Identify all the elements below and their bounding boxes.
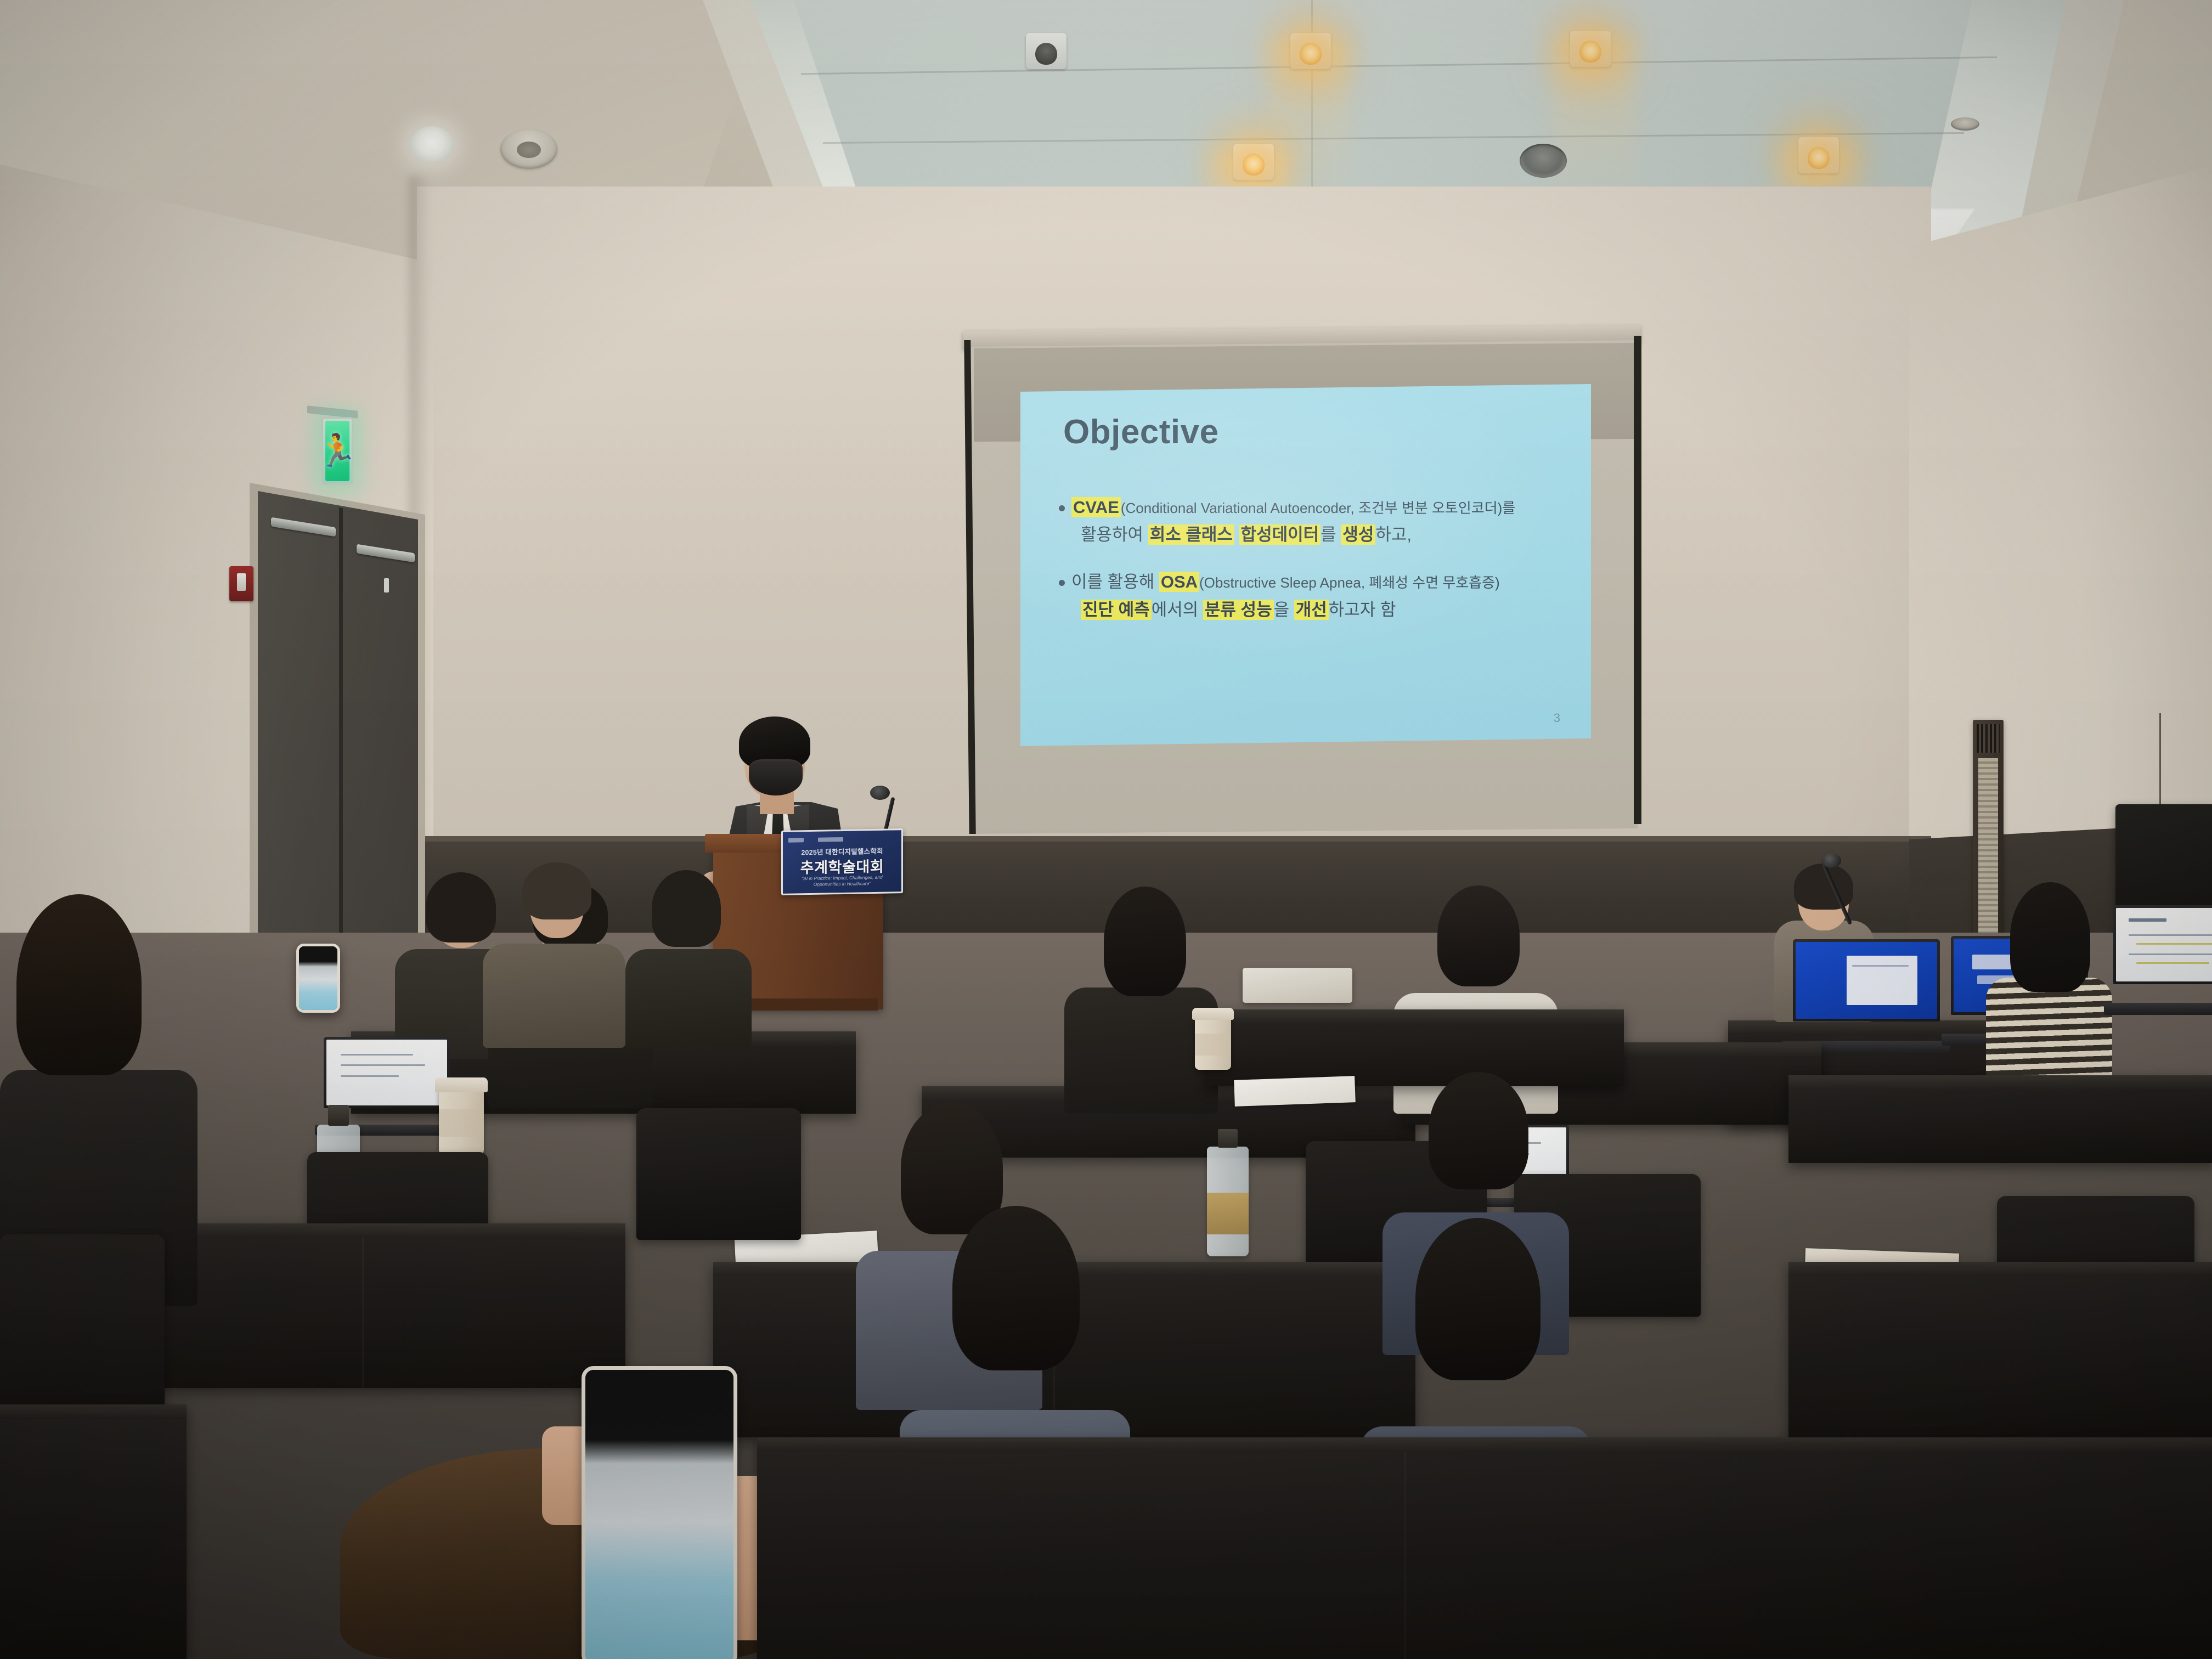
foreground-smartphone[interactable] [582,1366,737,1659]
person-hair [1415,1218,1541,1380]
bullet-dot-icon [1059,505,1065,511]
slide-text: 하고, [1375,525,1412,544]
sponsor-logo-icon [818,837,843,842]
person-hair [16,894,142,1075]
slide-keyword-cvae: CVAE [1071,497,1121,517]
ceiling-spotlight-on[interactable] [1233,144,1274,180]
chair[interactable] [636,1108,801,1240]
slide-page-number: 3 [1554,711,1560,725]
slide-keyword-improve: 개선 [1294,600,1329,620]
slide-text [1234,525,1239,544]
projected-slide: Objective CVAE(Conditional Variational A… [1020,384,1591,746]
smoke-detector-icon [500,129,557,169]
emergency-exit-sign: 🏃 [321,417,353,485]
attendee [625,867,752,1042]
slide-keyword-classification-performance: 분류 성능 [1203,600,1274,620]
slide-body: CVAE(Conditional Variational Autoencoder… [1059,494,1575,644]
attendee [1064,878,1218,1108]
slide-keyword-synthetic-data: 합성데이터 [1239,524,1321,545]
slide-keyword-diagnosis-prediction: 진단 예측 [1081,600,1152,620]
ceiling-vent [1520,144,1567,178]
ceiling-spotlight-on[interactable] [1570,31,1611,67]
banner-line-3: "AI in Practice: Impact, Challenges, and… [789,874,895,888]
presenter-source-laptop[interactable] [2113,905,2212,1015]
person-hair [522,862,591,919]
ceiling-spotlight-on[interactable] [1798,137,1839,173]
slide-bullet-2: 이를 활용해 OSA(Obstructive Sleep Apnea, 폐쇄성 … [1059,568,1575,623]
slide-bullet-1-line-2: 활용하여 희소 클래스 합성데이터를 생성하고, [1059,521,1575,549]
vent-grille-icon [1977,724,2000,753]
banner-logo-row [788,834,896,843]
ceiling-spotlight-on[interactable] [1290,33,1331,69]
monitor-cable [2159,713,2161,806]
water-bottle[interactable] [1207,1147,1249,1256]
attendee [384,856,466,966]
table-row [1788,1262,2212,1443]
person-hair [952,1206,1080,1370]
microphone-icon [870,786,890,800]
wainscot-cap [417,836,1931,842]
person-body [625,949,752,1048]
laptop-screen-objective-slide [2116,908,2212,981]
slide-bullet-1-line-1: CVAE(Conditional Variational Autoencoder… [1059,494,1575,521]
slide-title: Objective [1063,413,1219,452]
laptop-screen-blue [1796,942,1937,1019]
fire-alarm-pull-station[interactable] [229,566,253,601]
table-row [1788,1075,2212,1163]
conference-room-photo: 🏃 Objective CVAE(Conditional Variational… [0,0,2212,1659]
person-hair-long [1104,887,1186,996]
slide-text: 를 [1321,525,1341,544]
podium-banner: 2025년 대한디지털헬스학회 추계학술대회 "AI in Practice: … [781,828,903,895]
table-row [0,1404,187,1659]
person-hair-long [2010,882,2090,992]
attendee-smartphone[interactable] [296,944,340,1013]
person-hair-bun [1437,885,1520,986]
staff-laptop-1[interactable] [1793,939,1940,1053]
door-center-seam [339,507,343,983]
printed-program[interactable] [1234,1076,1356,1107]
running-person-icon: 🏃 [321,435,353,467]
table-row-front [757,1437,2212,1659]
coffee-cup[interactable] [1195,1015,1231,1070]
person-hair [652,870,721,947]
phone-screen-camera-preview [585,1370,733,1659]
projector-unit [1243,968,1352,1003]
sponsor-logo-icon [788,838,804,842]
door-hinge [384,578,389,592]
bullet-dot-icon [1059,580,1065,586]
slide-bullet-2-line-2: 진단 예측에서의 분류 성능을 개선하고자 함 [1059,596,1575,624]
attendee-suit [483,856,625,1042]
slide-bullet-2-line-1: 이를 활용해 OSA(Obstructive Sleep Apnea, 폐쇄성 … [1059,568,1575,596]
person-hair [1429,1072,1528,1189]
slide-text: 하고자 함 [1329,600,1396,619]
slide-keyword-rare-class: 희소 클래스 [1148,524,1234,545]
microphone-icon [1821,854,1841,868]
attendee [1986,879,2112,1109]
person-body [483,944,625,1048]
slide-bullet-1: CVAE(Conditional Variational Autoencoder… [1059,494,1575,549]
coffee-cup[interactable] [439,1086,484,1154]
screen-right-border [1634,336,1641,824]
ceiling-downlight [410,126,453,162]
person-hair [1794,864,1853,910]
face-mask-icon [749,759,803,795]
slide-text: 에서의 [1152,600,1203,619]
slide-text: 을 [1274,600,1294,619]
slide-text: (Obstructive Sleep Apnea, 폐쇄성 수면 무호흡증) [1199,574,1500,591]
table-row [132,1223,625,1388]
ceiling-spotlight-off[interactable] [1026,33,1066,69]
slide-text: (Conditional Variational Autoencoder, 조건… [1121,500,1515,516]
ceiling-speaker-icon [1951,117,1979,131]
laptop-screen-document [326,1040,447,1105]
slide-keyword-generate: 생성 [1341,524,1375,545]
slide-text: 이를 활용해 [1071,572,1159,591]
slide-text: 활용하여 [1081,525,1148,544]
slide-keyword-osa: OSA [1159,572,1199,592]
